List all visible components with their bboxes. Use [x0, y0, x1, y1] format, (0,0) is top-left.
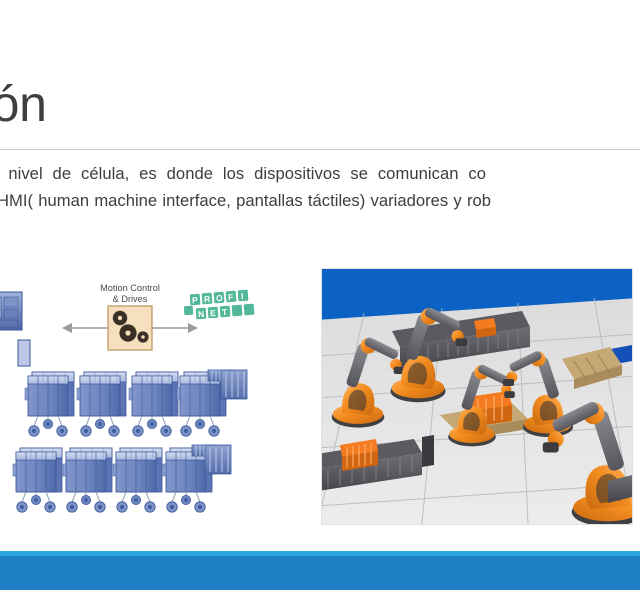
- svg-text:F: F: [228, 292, 234, 302]
- title-divider: [0, 149, 640, 150]
- body-line-2: er PLC,HMI( human machine interface, pan…: [0, 187, 640, 214]
- profinet-logo: P R O F I N E T: [184, 290, 255, 320]
- drive-stack: [177, 372, 226, 436]
- hmi-panel: [0, 292, 22, 330]
- motion-control-box: [108, 306, 152, 350]
- svg-text:R: R: [204, 294, 211, 304]
- page-title: ripción: [0, 74, 640, 134]
- body-paragraph: llamado nivel de célula, es donde los di…: [0, 160, 640, 214]
- network-topology-diagram: MI Motion Control & Drives: [0, 268, 288, 526]
- svg-text:O: O: [216, 293, 224, 303]
- motion-control-label-line1: Motion Control: [100, 283, 160, 293]
- motion-control-label-line2: & Drives: [113, 294, 148, 304]
- svg-text:N: N: [198, 309, 205, 319]
- svg-text:E: E: [210, 308, 217, 318]
- footer-bar-body: [0, 556, 640, 590]
- robot-cell-image: [321, 268, 633, 525]
- drive-stack: [63, 448, 112, 512]
- slide-canvas: ripción llamado nivel de célula, es dond…: [0, 0, 640, 590]
- drive-stack: [113, 448, 162, 512]
- svg-text:P: P: [192, 295, 199, 305]
- footer-bar: [0, 551, 640, 590]
- network-switch-main: [18, 340, 30, 366]
- drive-stack: [13, 448, 62, 512]
- body-line-1: llamado nivel de célula, es donde los di…: [0, 160, 640, 187]
